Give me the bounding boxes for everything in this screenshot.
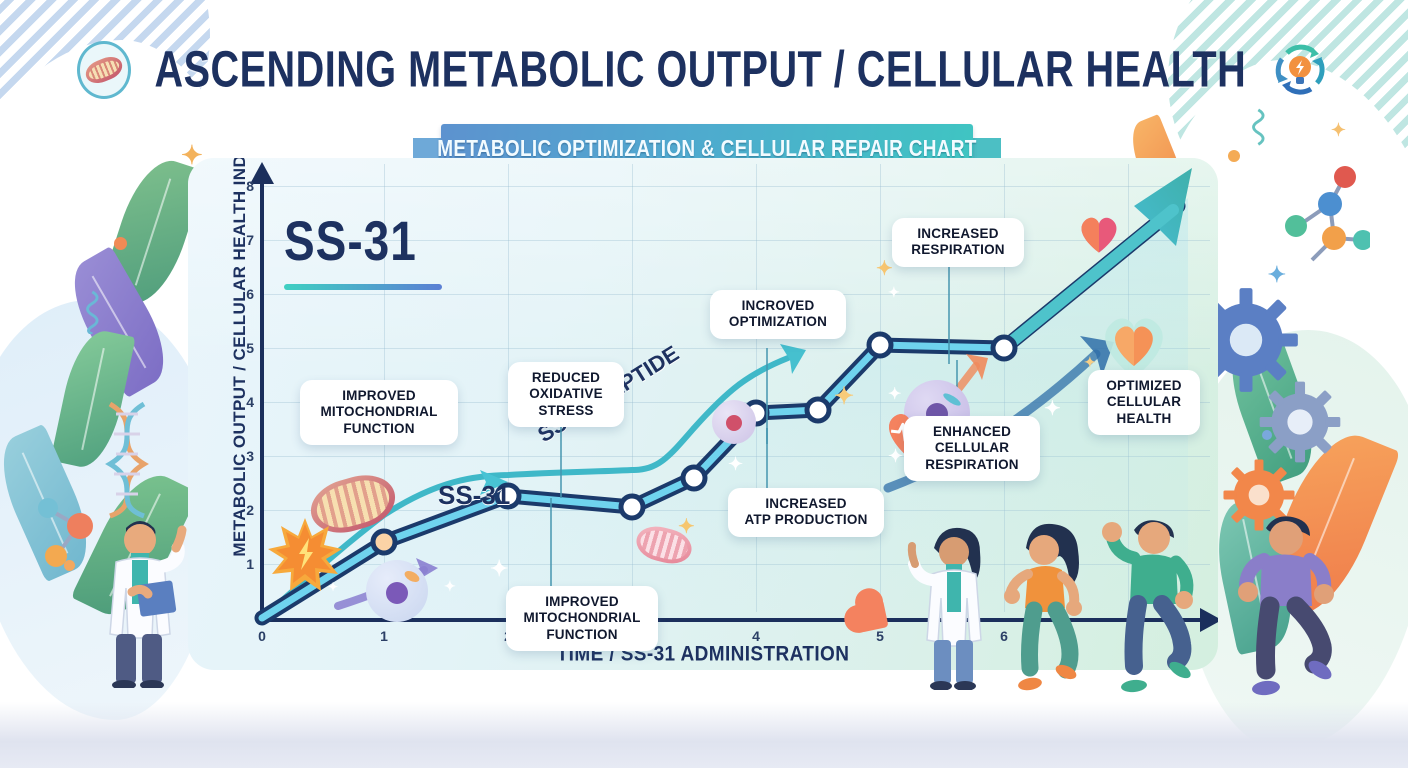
sparkle-in-chart-5: ✦: [834, 382, 854, 411]
sparkle-in-chart-12: ✦: [328, 580, 338, 594]
gear-icon-medium: [1258, 380, 1342, 464]
sparkle-in-chart-9: ✦: [888, 446, 903, 467]
sparkle-in-chart-11: ✦: [1084, 354, 1096, 371]
molecule-icon-right: [1250, 160, 1370, 280]
floor-shadow: [0, 702, 1408, 768]
sparkle-in-chart-8: ✦: [888, 284, 900, 301]
figure-runner-man-teal: [1098, 504, 1202, 694]
callout-increased-respiration: INCREASED RESPIRATION: [892, 218, 1024, 267]
dot-decoration-orange-2: [64, 560, 75, 571]
squiggle-decoration-left: [86, 290, 112, 334]
cell-illustration-2: [712, 400, 756, 444]
callout-incroved-optimization: INCROVED OPTIMIZATION: [710, 290, 846, 339]
leaf-decoration-green-2: [50, 325, 135, 472]
leaf-decoration-green-right-1: [1216, 324, 1327, 487]
series-inline-label-ss31: SS-31: [438, 480, 510, 511]
page-title: ASCENDING METABOLIC OUTPUT / CELLULAR HE…: [154, 41, 1246, 99]
mitochondria-icon: [77, 41, 131, 99]
callout-reduced-oxidative-stress: REDUCED OXIDATIVE STRESS: [508, 362, 624, 427]
callout-enhanced-cellular-respiration: ENHANCED CELLULAR RESPIRATION: [904, 416, 1040, 481]
heart-icon-1: [855, 599, 888, 632]
sparkle-in-chart-7: ✦: [876, 256, 893, 281]
infographic-canvas: ✦ ✦ ✦ ASCENDING METABOLIC OUTPUT / CELLU…: [0, 0, 1408, 768]
squiggle-decoration-right: [1252, 108, 1278, 152]
dna-helix-icon: [92, 400, 162, 520]
lightbulb-cycle-icon: [1269, 39, 1331, 101]
sparkle-decoration-right-2: ✦: [1331, 120, 1346, 141]
sparkle-in-chart-3: ✦: [678, 514, 695, 539]
dot-decoration-orange-3: [1228, 150, 1240, 162]
callout-optimized-cellular-health: OPTIMIZED CELLULAR HEALTH: [1088, 370, 1200, 435]
dot-decoration-blue: [1262, 430, 1272, 440]
leaf-decoration-purple: [57, 246, 181, 398]
sparkle-decoration-right: ✦: [1268, 262, 1286, 288]
sparkle-in-chart-4: ✦: [728, 454, 743, 475]
callout-improved-mitochondrial-function-1: IMPROVED MITOCHONDRIAL FUNCTION: [300, 380, 458, 445]
dot-decoration-orange-1: [114, 237, 127, 250]
callout-improved-mitochondrial-function-2: IMPROVED MITOCHONDRIAL FUNCTION: [506, 586, 658, 651]
callout-increased-atp-production: INCREASED ATP PRODUCTION: [728, 488, 884, 537]
sparkle-in-chart-1: ✦: [490, 556, 508, 582]
figure-scientist-female-pointing: [904, 518, 998, 690]
sparkle-in-chart-10: ✦: [1044, 396, 1061, 421]
sparkle-in-chart-2: ✦: [444, 578, 456, 595]
sparkle-in-chart-6: ✦: [888, 384, 901, 404]
header-bar: ASCENDING METABOLIC OUTPUT / CELLULAR HE…: [0, 30, 1408, 110]
figure-runner-man-purple: [1228, 502, 1348, 696]
figure-scientist-male-with-clipboard: [86, 506, 190, 688]
heart-icon-2: [1076, 210, 1122, 256]
cell-illustration-1: [366, 560, 428, 622]
figure-jogger-woman-orange: [1000, 514, 1096, 692]
